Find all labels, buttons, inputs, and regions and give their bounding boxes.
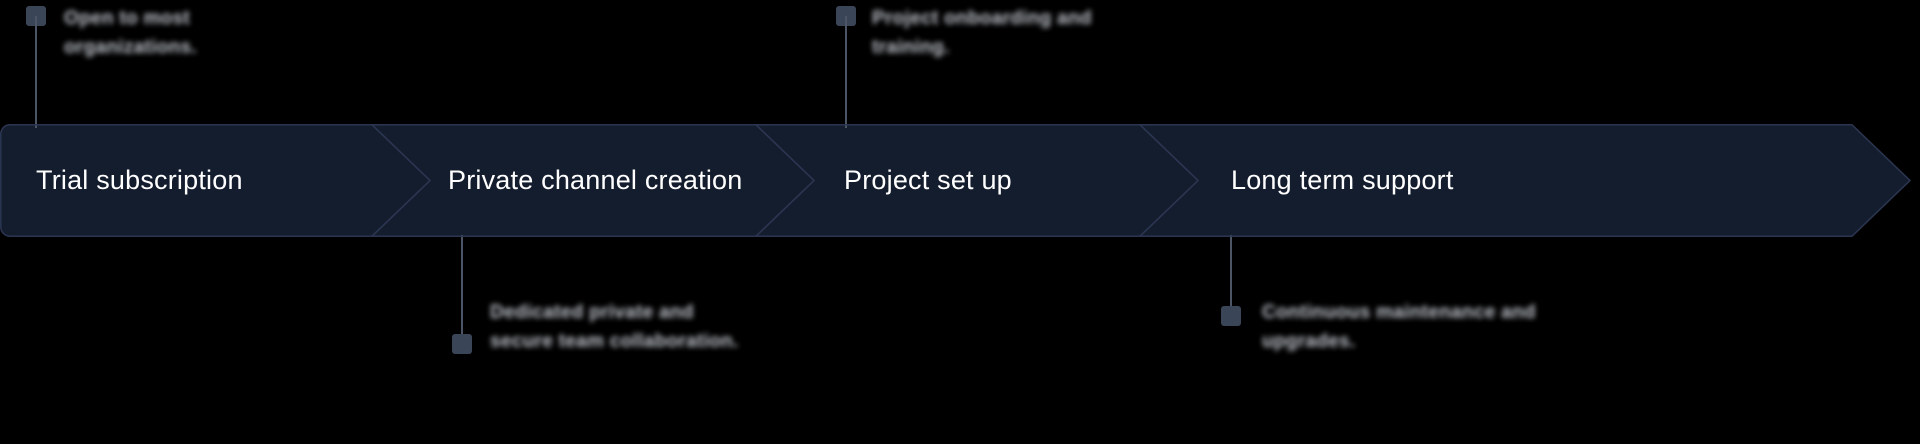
- process-step-band: Trial subscription Private channel creat…: [0, 124, 1920, 237]
- connector-marker-step2-bottom: [452, 334, 472, 354]
- annotation-top-left: Open to most organizations.: [64, 4, 197, 62]
- connector-line-step2-bottom: [461, 235, 463, 341]
- process-step-1[interactable]: Trial subscription: [0, 124, 430, 237]
- annotation-bottom-left: Dedicated private and secure team collab…: [490, 298, 739, 356]
- annotation-top-left-line-2: organizations.: [64, 33, 197, 62]
- connector-line-step4-bottom: [1230, 235, 1232, 313]
- connector-line-step1-top: [35, 16, 37, 128]
- annotation-bottom-right-line-1: Continuous maintenance and: [1262, 298, 1536, 327]
- process-step-3[interactable]: Project set up: [756, 124, 1198, 237]
- process-flow-diagram: Trial subscription Private channel creat…: [0, 0, 1920, 444]
- annotation-bottom-right-line-2: upgrades.: [1262, 327, 1536, 356]
- annotation-top-left-line-1: Open to most: [64, 4, 197, 33]
- annotation-top-right-line-1: Project onboarding and: [872, 4, 1092, 33]
- connector-line-step3-top: [845, 16, 847, 128]
- annotation-bottom-left-line-2: secure team collaboration.: [490, 327, 739, 356]
- process-step-1-label: Trial subscription: [0, 167, 243, 194]
- process-step-4[interactable]: Long term support: [1140, 124, 1920, 237]
- process-step-2[interactable]: Private channel creation: [372, 124, 814, 237]
- annotation-top-right: Project onboarding and training.: [872, 4, 1092, 62]
- connector-marker-step4-bottom: [1221, 306, 1241, 326]
- annotation-bottom-left-line-1: Dedicated private and: [490, 298, 739, 327]
- annotation-bottom-right: Continuous maintenance and upgrades.: [1262, 298, 1536, 356]
- annotation-top-right-line-2: training.: [872, 33, 1092, 62]
